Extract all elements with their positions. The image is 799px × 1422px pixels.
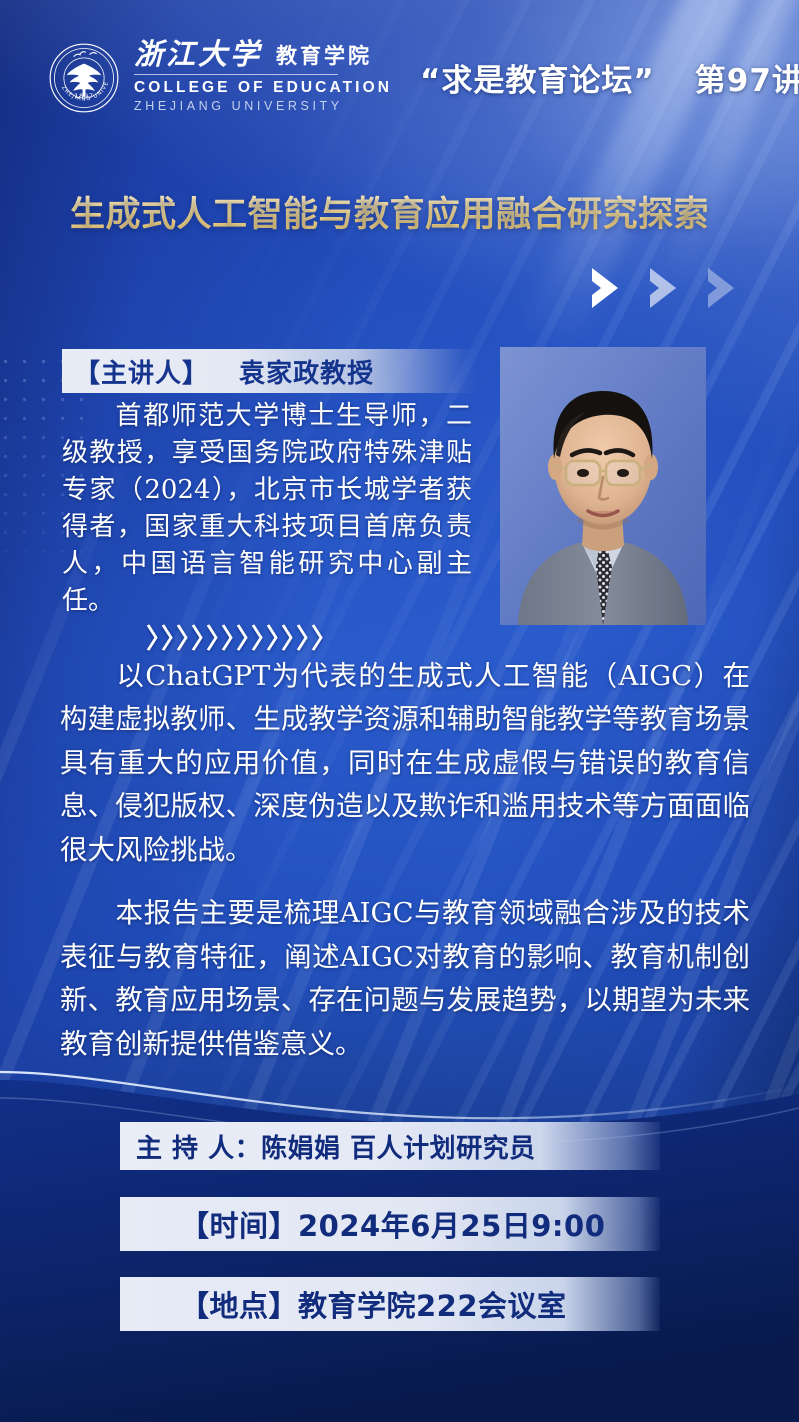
forum-heading: “求是教育论坛” 第97讲: [420, 55, 799, 100]
session-number: 第97讲: [695, 55, 799, 100]
university-name-cn: 浙江大学: [134, 40, 262, 69]
logo-divider: [134, 74, 338, 75]
host-info-bar: 主 持 人：陈娟娟 百人计划研究员: [120, 1122, 660, 1170]
speaker-name-bar: 【主讲人】 袁家政教授: [62, 349, 480, 393]
place-info-bar: 【地点】教育学院222会议室: [120, 1277, 660, 1331]
poster-canvas: 1897 ZHEJIANG UNIVERSITY 浙江大学 教育学院 COLLE…: [0, 0, 799, 1422]
abstract-paragraph-text: 本报告主要是梳理AIGC与教育领域融合涉及的技术表征与教育特征，阐述AIGC对教…: [60, 897, 750, 1059]
college-name-cn: 教育学院: [276, 46, 372, 69]
page-title: 生成式人工智能与教育应用融合研究探索: [70, 186, 750, 237]
forum-name: “求是教育论坛”: [420, 55, 655, 100]
zju-seal-icon: 1897 ZHEJIANG UNIVERSITY: [48, 42, 120, 114]
college-name-en: COLLEGE OF EDUCATION: [134, 79, 392, 97]
avatar: [500, 347, 706, 625]
abstract-section: 以ChatGPT为代表的生成式人工智能（AIGC）在构建虚拟教师、生成教学资源和…: [60, 655, 750, 1086]
chevron-trio-decoration: [588, 266, 750, 310]
speaker-label: 【主讲人】: [74, 359, 209, 389]
abstract-paragraph: 以ChatGPT为代表的生成式人工智能（AIGC）在构建虚拟教师、生成教学资源和…: [60, 655, 750, 872]
university-name-en: ZHEJIANG UNIVERSITY: [134, 97, 392, 116]
poster-header: 1897 ZHEJIANG UNIVERSITY 浙江大学 教育学院 COLLE…: [0, 0, 799, 150]
speaker-bio-text: 首都师范大学博士生导师，二级教授，享受国务院政府特殊津贴专家（2024），北京市…: [62, 401, 472, 616]
chevron-right-icon: [646, 266, 692, 310]
time-info-bar: 【时间】2024年6月25日9:00: [120, 1197, 660, 1251]
host-text: 主 持 人：陈娟娟 百人计划研究员: [136, 1128, 536, 1165]
time-text: 【时间】2024年6月25日9:00: [180, 1203, 605, 1245]
zju-logo-lockup: 1897 ZHEJIANG UNIVERSITY 浙江大学 教育学院 COLLE…: [48, 40, 392, 116]
chevron-right-icon: [704, 266, 750, 310]
speaker-bio: 首都师范大学博士生导师，二级教授，享受国务院政府特殊津贴专家（2024），北京市…: [62, 398, 472, 619]
chevron-run-decoration: 〉〉〉〉〉〉〉〉〉〉〉〉: [146, 617, 340, 656]
chevron-right-icon: [588, 266, 634, 310]
zju-wordmark: 浙江大学 教育学院 COLLEGE OF EDUCATION ZHEJIANG …: [134, 40, 392, 116]
speaker-portrait-icon: [500, 347, 706, 625]
abstract-paragraph: 本报告主要是梳理AIGC与教育领域融合涉及的技术表征与教育特征，阐述AIGC对教…: [60, 892, 750, 1066]
speaker-name: 袁家政教授: [239, 359, 374, 389]
place-text: 【地点】教育学院222会议室: [180, 1283, 567, 1325]
abstract-paragraph-text: 以ChatGPT为代表的生成式人工智能（AIGC）在构建虚拟教师、生成教学资源和…: [60, 660, 750, 866]
